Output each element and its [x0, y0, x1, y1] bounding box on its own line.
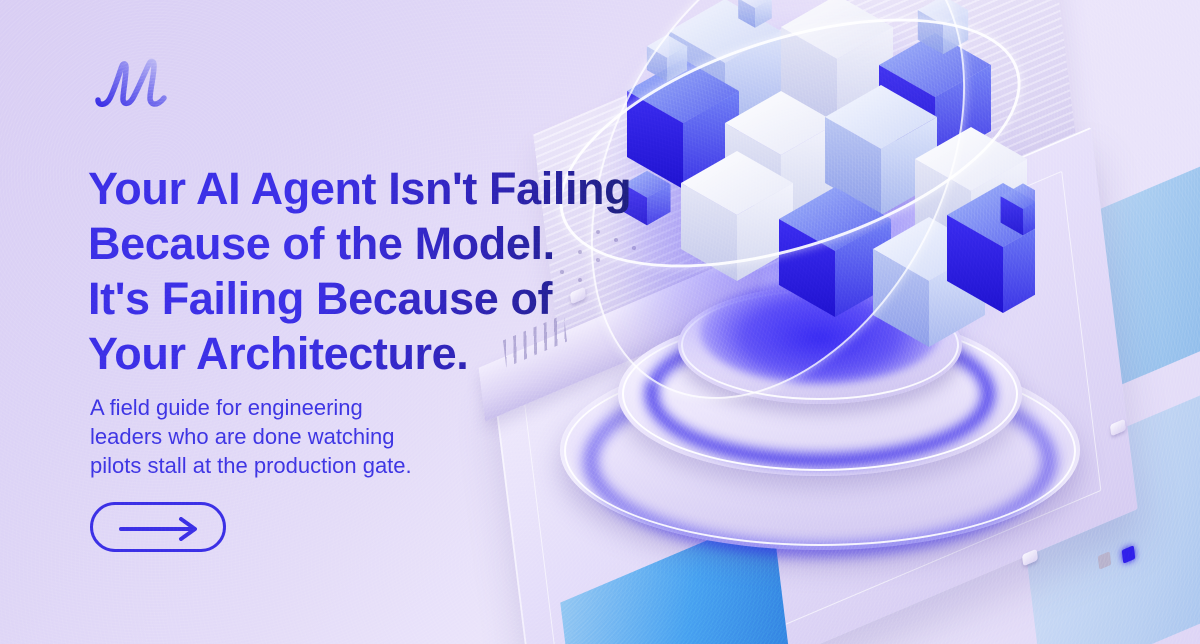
subtitle-line-2: leaders who are done watching: [90, 422, 520, 451]
subtitle-line-3: pilots stall at the production gate.: [90, 451, 520, 480]
page-title: Your AI Agent Isn't Failing Because of t…: [88, 161, 708, 381]
page-subtitle: A field guide for engineering leaders wh…: [90, 393, 520, 480]
content-column: Your AI Agent Isn't Failing Because of t…: [88, 0, 708, 644]
headline-line-4: Your Architecture.: [88, 326, 708, 381]
cta-arrow-button[interactable]: [90, 502, 226, 552]
arrow-right-icon: [119, 517, 203, 541]
headline-line-1: Your AI Agent Isn't Failing: [88, 161, 708, 216]
promo-banner: Your AI Agent Isn't Failing Because of t…: [0, 0, 1200, 644]
subtitle-line-1: A field guide for engineering: [90, 393, 520, 422]
cursive-w-logo[interactable]: [92, 56, 180, 114]
headline-line-2: Because of the Model.: [88, 216, 708, 271]
headline-line-3: It's Failing Because of: [88, 271, 708, 326]
